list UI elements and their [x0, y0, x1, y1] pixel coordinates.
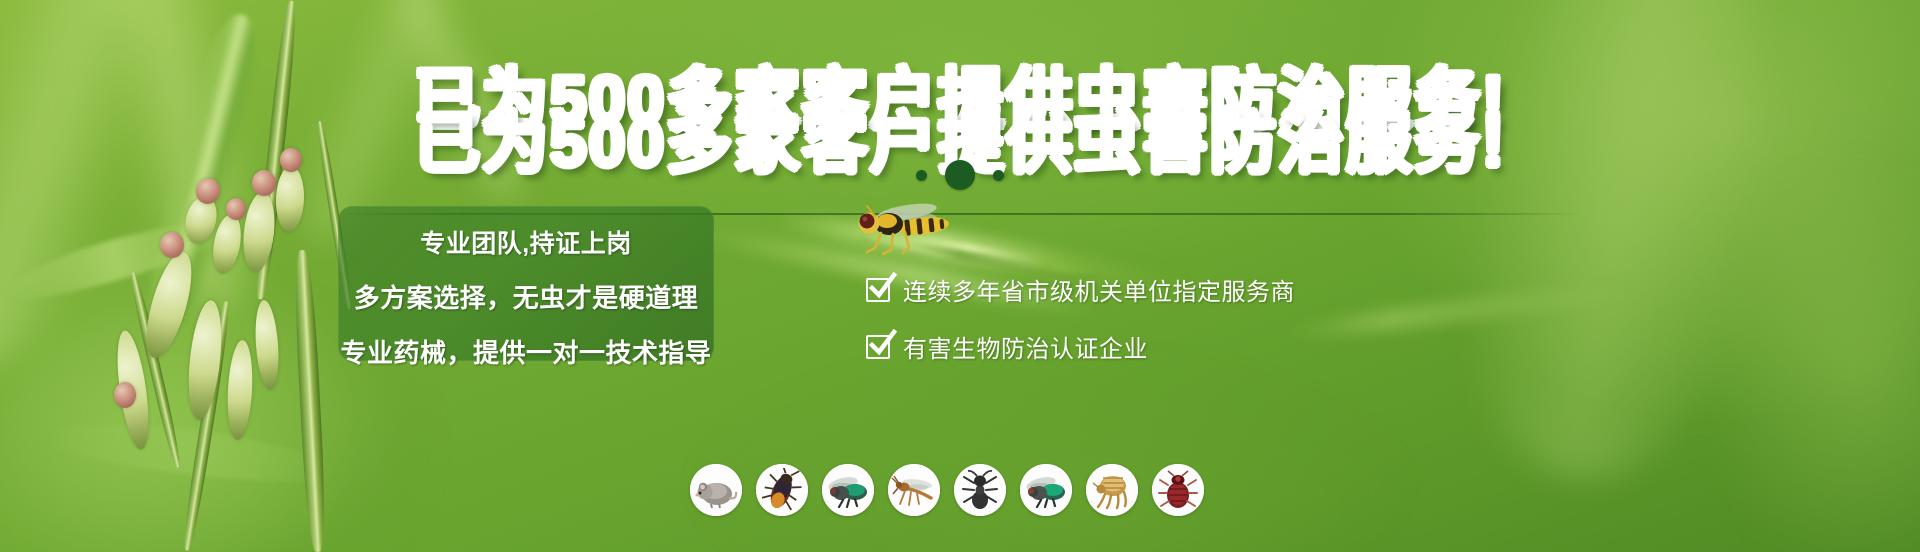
decorative-dots: [0, 160, 1920, 190]
blowfly-icon: [1023, 472, 1069, 508]
feature-bullets: 连续多年省市级机关单位指定服务商 有害生物防治认证企业: [866, 272, 1295, 364]
pest-circle[interactable]: [1152, 464, 1204, 516]
bullet-item: 连续多年省市级机关单位指定服务商: [866, 272, 1295, 307]
bullet-item: 有害生物防治认证企业: [866, 329, 1295, 364]
mosquito-icon: [891, 472, 937, 508]
bullet-label: 有害生物防治认证企业: [903, 329, 1148, 364]
dot-small-left: [916, 170, 927, 181]
pest-circle[interactable]: [888, 464, 940, 516]
dot-large-center: [945, 160, 975, 190]
checkbox-checked-icon: [866, 335, 890, 359]
pest-circle[interactable]: [690, 464, 742, 516]
flea-icon: [1091, 470, 1133, 510]
pest-circle[interactable]: [954, 464, 1006, 516]
slogan-line-3: 专业药械，提供一对一技术指导: [338, 333, 714, 370]
pest-circle[interactable]: [822, 464, 874, 516]
ant-icon: [960, 469, 1000, 511]
pest-circle[interactable]: [756, 464, 808, 516]
dot-small-right: [993, 170, 1004, 181]
fly-icon: [825, 472, 871, 508]
pest-circle[interactable]: [1086, 464, 1138, 516]
bullet-label: 连续多年省市级机关单位指定服务商: [903, 272, 1295, 307]
slogan-panel: 专业团队,持证上岗 多方案选择，无虫才是硬道理 专业药械，提供一对一技术指导: [338, 206, 714, 361]
slogan-line-2: 多方案选择，无虫才是硬道理: [338, 278, 714, 315]
cockroach-icon: [762, 468, 802, 512]
hoverfly-icon: [845, 196, 965, 258]
rodent-icon: [693, 470, 739, 510]
bedbug-icon: [1158, 469, 1198, 511]
pest-circle[interactable]: [1020, 464, 1072, 516]
promo-banner: 已为500多家客户提供虫害防治服务! 已为500多家客户提供虫害防治服务! 专业…: [0, 0, 1920, 552]
pest-icon-row: [690, 464, 1204, 516]
slogan-line-1: 专业团队,持证上岗: [338, 224, 714, 260]
checkbox-checked-icon: [866, 278, 890, 302]
